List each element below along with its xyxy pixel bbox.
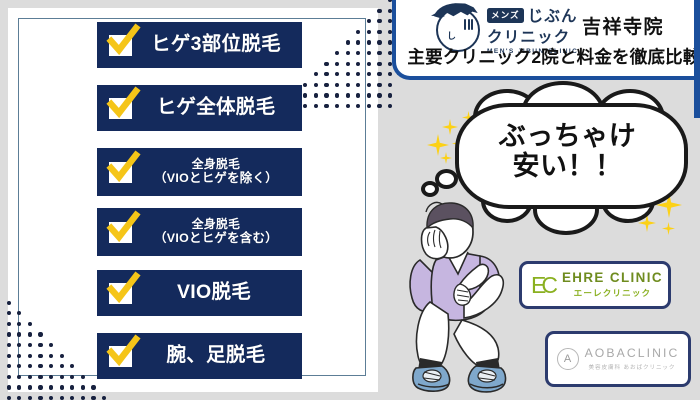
- decorative-dot: [356, 93, 360, 97]
- checklist-label-vio: VIO脱毛: [136, 282, 302, 304]
- bubble-line-2: 安い！！: [513, 153, 623, 181]
- checklist-row-zenshin-ex[interactable]: 全身脱毛（VIOとヒゲを除く）: [97, 148, 302, 196]
- decorative-dot: [346, 104, 350, 108]
- branch-name: 吉祥寺院: [582, 12, 664, 39]
- decorative-dot: [324, 83, 328, 87]
- sparkle-icon: [440, 152, 452, 164]
- decorative-dot: [367, 62, 371, 66]
- decorative-dot: [81, 385, 85, 389]
- decorative-dot: [377, 9, 381, 13]
- header-card: し メンズ じぶん クリニック MEN'S JIBUN CLINIC 吉祥寺院 …: [392, 0, 700, 80]
- checkbox-zenshin-ex[interactable]: [109, 162, 132, 183]
- checklist-row-zenshin-inc[interactable]: 全身脱毛（VIOとヒゲを含む）: [97, 208, 302, 256]
- person-illustration: [402, 198, 530, 400]
- decorative-dot: [346, 40, 350, 44]
- checklist-row-arm-leg[interactable]: 腕、足脱毛: [97, 333, 302, 379]
- decorative-dot: [38, 364, 42, 368]
- decorative-dot: [324, 104, 328, 108]
- bubble-line-1: ぶっちゃけ: [499, 123, 637, 151]
- decorative-dot: [346, 62, 350, 66]
- decorative-dot: [367, 93, 371, 97]
- decorative-dot: [377, 40, 381, 44]
- decorative-dot: [377, 72, 381, 76]
- clinic-card-aoba[interactable]: A AOBACLINIC 美容皮膚科 あおばクリニック: [545, 331, 691, 387]
- decorative-dot: [102, 396, 106, 400]
- brand-name-line1: じぶん: [528, 4, 578, 26]
- decorative-dot: [60, 375, 64, 379]
- ear-icon: し: [447, 29, 456, 42]
- decorative-dot: [7, 354, 11, 358]
- decorative-dot: [49, 396, 53, 400]
- checklist-label-zenshin-inc: 全身脱毛（VIOとヒゲを含む）: [136, 218, 302, 246]
- label-line-1: 全身脱毛: [136, 158, 296, 171]
- decorative-dot: [388, 93, 392, 97]
- clinic-card-ehre[interactable]: EC EHRE CLINIC エーレクリニック: [519, 261, 671, 309]
- decorative-dot: [7, 301, 11, 305]
- decorative-dot: [367, 30, 371, 34]
- decorative-dot: [377, 62, 381, 66]
- decorative-dot: [70, 385, 74, 389]
- decorative-dot: [28, 332, 32, 336]
- decorative-dot: [17, 396, 21, 400]
- poster-canvas: ヒゲ3部位脱毛ヒゲ全体脱毛全身脱毛（VIOとヒゲを除く）全身脱毛（VIOとヒゲを…: [0, 0, 700, 400]
- aoba-clinic-name-jp: 美容皮膚科 あおばクリニック: [585, 363, 680, 371]
- decorative-dot: [38, 396, 42, 400]
- decorative-dot: [7, 396, 11, 400]
- decorative-dot: [377, 51, 381, 55]
- header-subtitle: 主要クリニック2院と料金を徹底比較: [396, 44, 700, 69]
- decorative-dot: [388, 104, 392, 108]
- decorative-dot: [377, 83, 381, 87]
- decorative-dot: [7, 375, 11, 379]
- decorative-dot: [7, 332, 11, 336]
- decorative-dot: [38, 354, 42, 358]
- decorative-dot: [346, 51, 350, 55]
- decorative-dot: [377, 104, 381, 108]
- hair-fringe-icon: [463, 19, 473, 31]
- decorative-dot: [335, 62, 339, 66]
- ehre-clinic-name-jp: エーレクリニック: [562, 287, 663, 299]
- decorative-dot: [324, 62, 328, 66]
- sparkle-icon: [427, 134, 449, 156]
- aoba-clinic-name: AOBACLINIC: [585, 347, 680, 360]
- decorative-dot: [388, 83, 392, 87]
- decorative-dot: [38, 343, 42, 347]
- decorative-dot: [303, 93, 307, 97]
- decorative-dot: [38, 385, 42, 389]
- aoba-logo-mark: A: [557, 348, 579, 370]
- bubble-tail-small: [421, 181, 439, 197]
- decorative-dot: [324, 93, 328, 97]
- decorative-dot: [60, 396, 64, 400]
- decorative-dot: [28, 385, 32, 389]
- checkbox-zenshin-inc[interactable]: [109, 222, 132, 243]
- decorative-dot: [70, 396, 74, 400]
- checkbox-arm-leg[interactable]: [109, 346, 132, 367]
- mens-badge: メンズ: [487, 8, 524, 23]
- label-line-2: （VIOとヒゲを除く）: [136, 172, 296, 186]
- treatment-checklist: ヒゲ3部位脱毛ヒゲ全体脱毛全身脱毛（VIOとヒゲを除く）全身脱毛（VIOとヒゲを…: [97, 22, 302, 378]
- decorative-dot: [91, 396, 95, 400]
- decorative-dot: [38, 332, 42, 336]
- ehre-clinic-name: EHRE CLINIC: [562, 271, 663, 285]
- checklist-row-hige-3-parts[interactable]: ヒゲ3部位脱毛: [97, 22, 302, 68]
- decorative-dot: [324, 72, 328, 76]
- decorative-dot: [314, 83, 318, 87]
- decorative-dot: [28, 354, 32, 358]
- decorative-dot: [335, 93, 339, 97]
- checklist-label-hige-all: ヒゲ全体脱毛: [136, 97, 302, 119]
- decorative-dot: [314, 93, 318, 97]
- decorative-dot: [367, 40, 371, 44]
- checkbox-hige-3-parts[interactable]: [109, 35, 132, 56]
- header-right-edge: [694, 0, 700, 118]
- checklist-label-zenshin-ex: 全身脱毛（VIOとヒゲを除く）: [136, 158, 302, 186]
- decorative-dot: [377, 93, 381, 97]
- checklist-row-hige-all[interactable]: ヒゲ全体脱毛: [97, 85, 302, 131]
- decorative-dot: [49, 354, 53, 358]
- decorative-dot: [38, 375, 42, 379]
- checkbox-hige-all[interactable]: [109, 98, 132, 119]
- label-line-1: 全身脱毛: [136, 218, 296, 231]
- decorative-dot: [60, 354, 64, 358]
- sparkle-icon: [662, 222, 675, 235]
- decorative-dot: [346, 83, 350, 87]
- decorative-dot: [81, 396, 85, 400]
- decorative-dot: [60, 385, 64, 389]
- checkbox-vio[interactable]: [109, 283, 132, 304]
- decorative-dot: [17, 332, 21, 336]
- decorative-dot: [28, 322, 32, 326]
- decorative-dot: [388, 72, 392, 76]
- decorative-dot: [91, 385, 95, 389]
- checklist-label-arm-leg: 腕、足脱毛: [136, 345, 302, 367]
- decorative-dot: [7, 385, 11, 389]
- decorative-dot: [377, 19, 381, 23]
- label-line-2: （VIOとヒゲを含む）: [136, 232, 296, 246]
- decorative-dot: [346, 93, 350, 97]
- decorative-dot: [367, 83, 371, 87]
- decorative-dot: [17, 385, 21, 389]
- decorative-dot: [28, 396, 32, 400]
- decorative-dot: [356, 40, 360, 44]
- decorative-dot: [7, 343, 11, 347]
- decorative-dot: [81, 375, 85, 379]
- decorative-dot: [7, 322, 11, 326]
- ehre-logo-mark: EC: [531, 274, 553, 297]
- decorative-dot: [377, 30, 381, 34]
- decorative-dot: [49, 385, 53, 389]
- decorative-dot: [28, 375, 32, 379]
- checklist-row-vio[interactable]: VIO脱毛: [97, 270, 302, 316]
- checklist-label-hige-3-parts: ヒゲ3部位脱毛: [136, 34, 302, 56]
